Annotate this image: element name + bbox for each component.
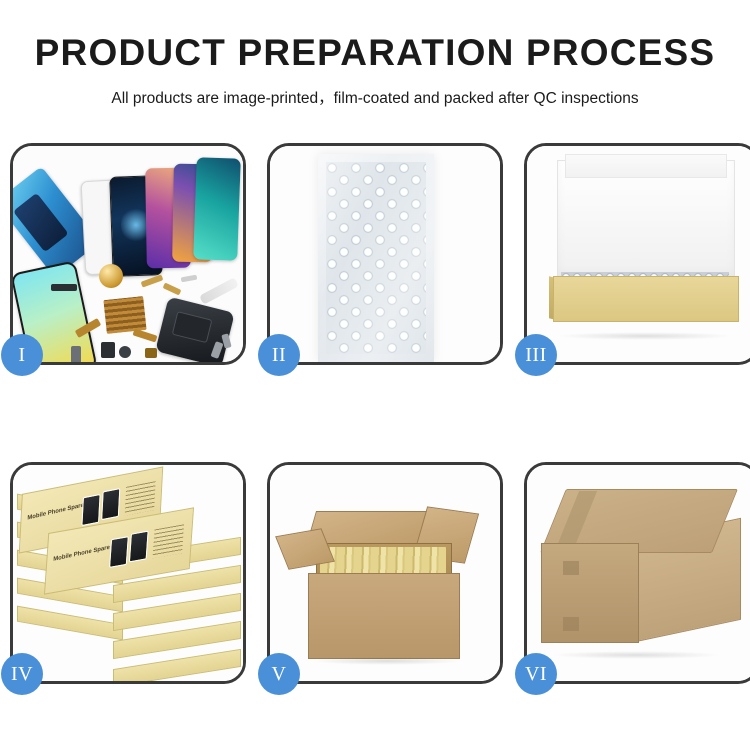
step-6-image: [527, 465, 750, 681]
step-3-image: [527, 146, 750, 362]
bubble-wrap-sheet: [318, 154, 434, 362]
carton-tab: [563, 617, 579, 631]
process-step-card-1: I: [10, 143, 246, 365]
step-badge-4: IV: [1, 653, 43, 695]
step-5-image: [270, 465, 500, 681]
phone-artwork-icon: [109, 536, 129, 568]
phone-artwork-icon: [101, 488, 120, 520]
step-badge-1: I: [1, 334, 43, 376]
step-4-image: Mobile Phone Spare Parts Mobile Phone Sp…: [13, 465, 243, 681]
step-badge-5: V: [258, 653, 300, 695]
process-step-card-5: V: [267, 462, 503, 684]
spare-part-icon: [141, 274, 164, 287]
process-step-card-2: II: [267, 143, 503, 365]
box-front-panel: [553, 276, 739, 322]
bubble-wrap-illustration: [270, 146, 500, 362]
spare-part-icon: [71, 346, 81, 362]
carton-tab: [563, 561, 579, 575]
drop-shadow: [551, 651, 721, 659]
phones-and-parts-illustration: [13, 146, 243, 362]
spec-text-lines: [125, 481, 156, 516]
product-preparation-process-page: PRODUCT PREPARATION PROCESS All products…: [0, 0, 750, 750]
sealed-carton-illustration: [527, 465, 750, 681]
process-steps-grid: I II: [10, 143, 740, 684]
step-2-image: [270, 146, 500, 362]
process-step-card-6: VI: [524, 462, 750, 684]
spare-part-icon: [163, 282, 182, 295]
carton-front-panel: [308, 573, 460, 659]
open-box-illustration: [527, 146, 750, 362]
process-step-card-3: III: [524, 143, 750, 365]
spare-part-icon: [145, 348, 157, 358]
chip-array-icon: [103, 296, 146, 334]
stacked-box-edge: [17, 606, 123, 641]
page-title: PRODUCT PREPARATION PROCESS: [0, 0, 750, 74]
step-1-image: [13, 146, 243, 362]
page-subtitle: All products are image-printed，film-coat…: [0, 74, 750, 108]
step-badge-6: VI: [515, 653, 557, 695]
drop-shadow: [557, 332, 733, 340]
phone-logic-board-icon: [155, 297, 235, 362]
box-lid-top-edge: [565, 154, 727, 178]
step-badge-3: III: [515, 334, 557, 376]
flex-cable-icon: [133, 328, 158, 342]
step-badge-2: II: [258, 334, 300, 376]
stacked-boxes-illustration: Mobile Phone Spare Parts Mobile Phone Sp…: [13, 465, 243, 681]
page-header: PRODUCT PREPARATION PROCESS All products…: [0, 0, 750, 108]
phone-teal-icon: [193, 157, 241, 260]
phone-artwork-icon: [81, 494, 100, 526]
carton-front-panel: [541, 543, 639, 643]
speaker-module-icon: [99, 264, 123, 288]
spec-text-lines: [153, 524, 185, 558]
repair-tool-icon: [199, 277, 239, 305]
drop-shadow: [312, 657, 462, 665]
phone-artwork-icon: [129, 531, 149, 563]
camera-lens-icon: [119, 346, 131, 358]
box-stack: Mobile Phone Spare Parts Mobile Phone Sp…: [17, 475, 243, 679]
process-step-card-4: Mobile Phone Spare Parts Mobile Phone Sp…: [10, 462, 246, 684]
spare-part-icon: [51, 284, 77, 291]
spare-part-icon: [101, 342, 115, 358]
spare-part-icon: [181, 275, 198, 283]
bubble-wrap-bubbles: [326, 162, 426, 354]
box-lid-panel: [557, 160, 735, 280]
open-carton-illustration: [270, 465, 500, 681]
